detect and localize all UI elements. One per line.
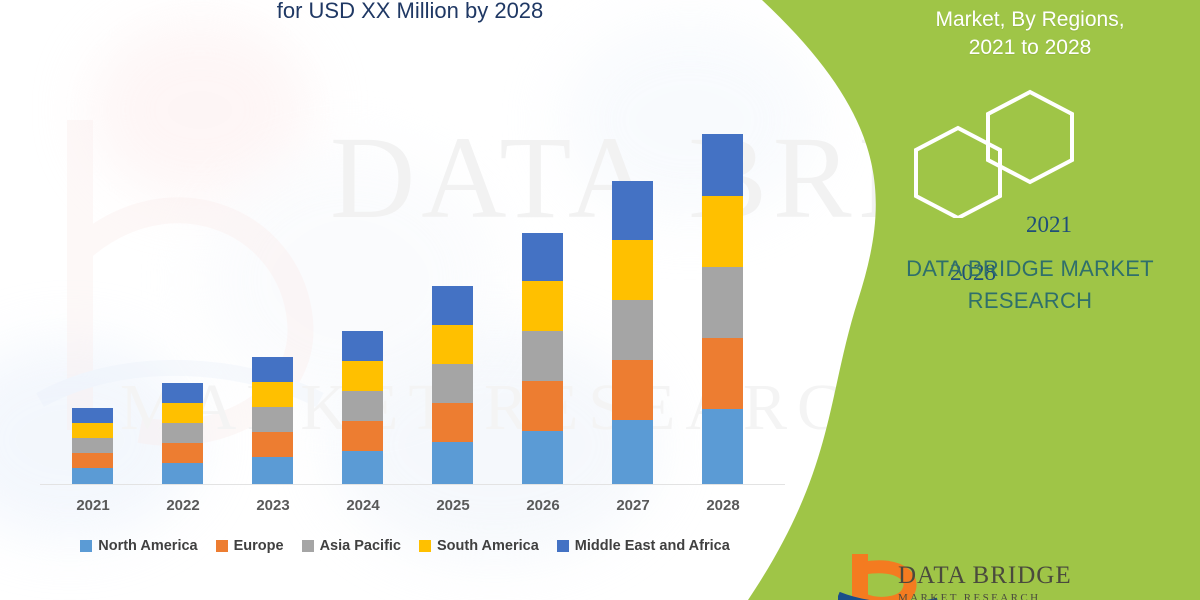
bar-segment[interactable] [432, 325, 473, 364]
bar-column[interactable] [522, 233, 563, 484]
x-axis-tick-label: 2024 [318, 497, 408, 514]
x-axis-tick-label: 2023 [228, 497, 318, 514]
bar-segment[interactable] [702, 134, 743, 196]
bar-segment[interactable] [72, 423, 113, 438]
legend-label: North America [98, 538, 197, 554]
bar-column[interactable] [342, 331, 383, 484]
legend-swatch [557, 540, 569, 552]
x-axis-tick-label: 2026 [498, 497, 588, 514]
legend-swatch [302, 540, 314, 552]
bar-segment[interactable] [612, 240, 653, 300]
logo-wordmark: DATA BRIDGE [898, 562, 1072, 590]
bar-column[interactable] [252, 357, 293, 484]
legend-item[interactable]: South America [419, 538, 539, 554]
legend-item[interactable]: Asia Pacific [302, 538, 401, 554]
legend-label: Europe [234, 538, 284, 554]
hexagon-label-right: 2021 [1026, 212, 1072, 238]
bar-segment[interactable] [342, 361, 383, 391]
x-axis-tick-label: 2027 [588, 497, 678, 514]
panel-brand-line-1: DATA BRIDGE MARKET [880, 253, 1180, 285]
bar-segment[interactable] [252, 407, 293, 432]
bar-segment[interactable] [72, 453, 113, 468]
bar-segment[interactable] [252, 432, 293, 457]
logo-tagline: MARKET RESEARCH [898, 592, 1040, 600]
bar-segment[interactable] [432, 403, 473, 442]
legend-item[interactable]: Europe [216, 538, 284, 554]
bar-segment[interactable] [522, 233, 563, 281]
panel-brand-line-2: RESEARCH [880, 285, 1180, 317]
hexagon-group: 2021 2028 [900, 88, 1130, 218]
bar-segment[interactable] [612, 420, 653, 484]
bar-segment[interactable] [72, 468, 113, 484]
bar-column[interactable] [612, 181, 653, 484]
bar-segment[interactable] [522, 331, 563, 381]
bar-segment[interactable] [162, 403, 203, 423]
bar-segment[interactable] [342, 391, 383, 421]
legend-label: Middle East and Africa [575, 538, 730, 554]
bar-segment[interactable] [162, 423, 203, 443]
bar-segment[interactable] [432, 442, 473, 484]
bar-segment[interactable] [522, 381, 563, 431]
bar-segment[interactable] [702, 338, 743, 409]
legend-swatch [419, 540, 431, 552]
bar-segment[interactable] [522, 431, 563, 484]
x-axis-tick-label: 2021 [48, 497, 138, 514]
x-axis-tick-label: 2022 [138, 497, 228, 514]
bar-segment[interactable] [702, 409, 743, 484]
x-axis-tick-label: 2025 [408, 497, 498, 514]
bar-segment[interactable] [342, 421, 383, 451]
bar-column[interactable] [702, 134, 743, 484]
panel-brand-text: DATA BRIDGE MARKET RESEARCH [880, 253, 1180, 317]
legend-label: Asia Pacific [320, 538, 401, 554]
bar-segment[interactable] [252, 357, 293, 382]
hexagon-2028-shape [916, 128, 1000, 218]
bar-segment[interactable] [612, 181, 653, 240]
bar-segment[interactable] [162, 443, 203, 463]
bar-segment[interactable] [612, 360, 653, 420]
bar-segment[interactable] [162, 383, 203, 403]
infographic-canvas: DATA BRIDGE MARKET RESEARCH Market is ex… [0, 0, 1200, 600]
bar-segment[interactable] [702, 267, 743, 338]
bar-segment[interactable] [702, 196, 743, 267]
stacked-bar-chart: 20212022202320242025202620272028 North A… [0, 0, 820, 600]
bar-segment[interactable] [522, 281, 563, 331]
legend-item[interactable]: North America [80, 538, 197, 554]
chart-legend: North AmericaEuropeAsia PacificSouth Ame… [0, 538, 810, 554]
bar-column[interactable] [432, 286, 473, 484]
bar-segment[interactable] [432, 364, 473, 403]
bar-segment[interactable] [72, 438, 113, 453]
bar-column[interactable] [72, 408, 113, 484]
bar-segment[interactable] [612, 300, 653, 360]
x-axis-tick-label: 2028 [678, 497, 768, 514]
panel-title-line-1: Market, By Regions, [860, 6, 1200, 34]
bar-segment[interactable] [342, 451, 383, 484]
chart-baseline [40, 484, 785, 485]
bar-segment[interactable] [432, 286, 473, 325]
hexagon-outlines-icon [900, 88, 1130, 218]
legend-label: South America [437, 538, 539, 554]
legend-item[interactable]: Middle East and Africa [557, 538, 730, 554]
panel-title-line-2: 2021 to 2028 [860, 34, 1200, 62]
bar-segment[interactable] [252, 457, 293, 484]
panel-title: Market, By Regions, 2021 to 2028 [860, 0, 1200, 62]
bar-column[interactable] [162, 383, 203, 484]
legend-swatch [216, 540, 228, 552]
bar-segment[interactable] [252, 382, 293, 407]
bar-segment[interactable] [162, 463, 203, 484]
legend-swatch [80, 540, 92, 552]
bar-segment[interactable] [342, 331, 383, 361]
bar-segment[interactable] [72, 408, 113, 423]
